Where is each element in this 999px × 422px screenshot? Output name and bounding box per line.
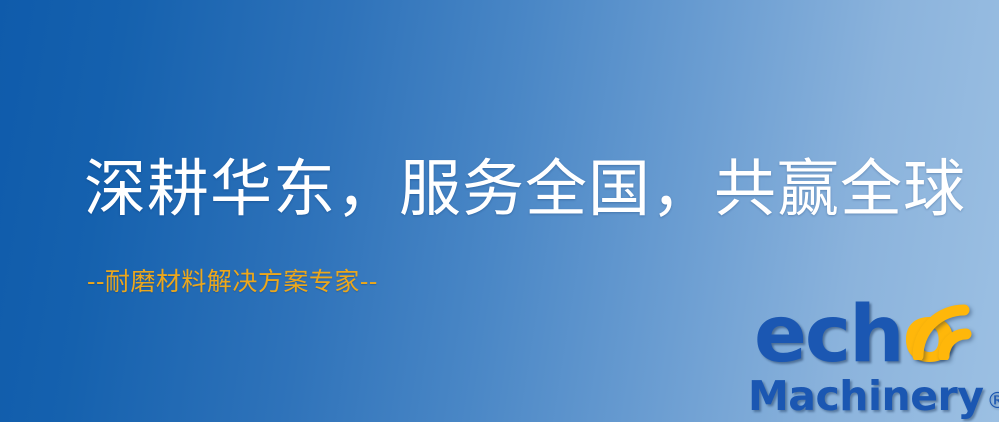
company-logo: ech o Machinery ®: [748, 296, 999, 422]
logo-tagline-row: Machinery ®: [748, 374, 999, 418]
signal-wave-icon: [908, 298, 996, 360]
registered-trademark-icon: ®: [986, 391, 999, 413]
promo-banner: 深耕华东，服务全国，共赢全球 --耐磨材料解决方案专家-- ech o Mach…: [0, 0, 999, 422]
banner-headline: 深耕华东，服务全国，共赢全球: [84, 152, 944, 226]
logo-wordmark-ech: ech: [754, 296, 903, 374]
banner-subtitle: --耐磨材料解决方案专家--: [87, 266, 378, 298]
logo-tagline: Machinery: [748, 374, 983, 418]
